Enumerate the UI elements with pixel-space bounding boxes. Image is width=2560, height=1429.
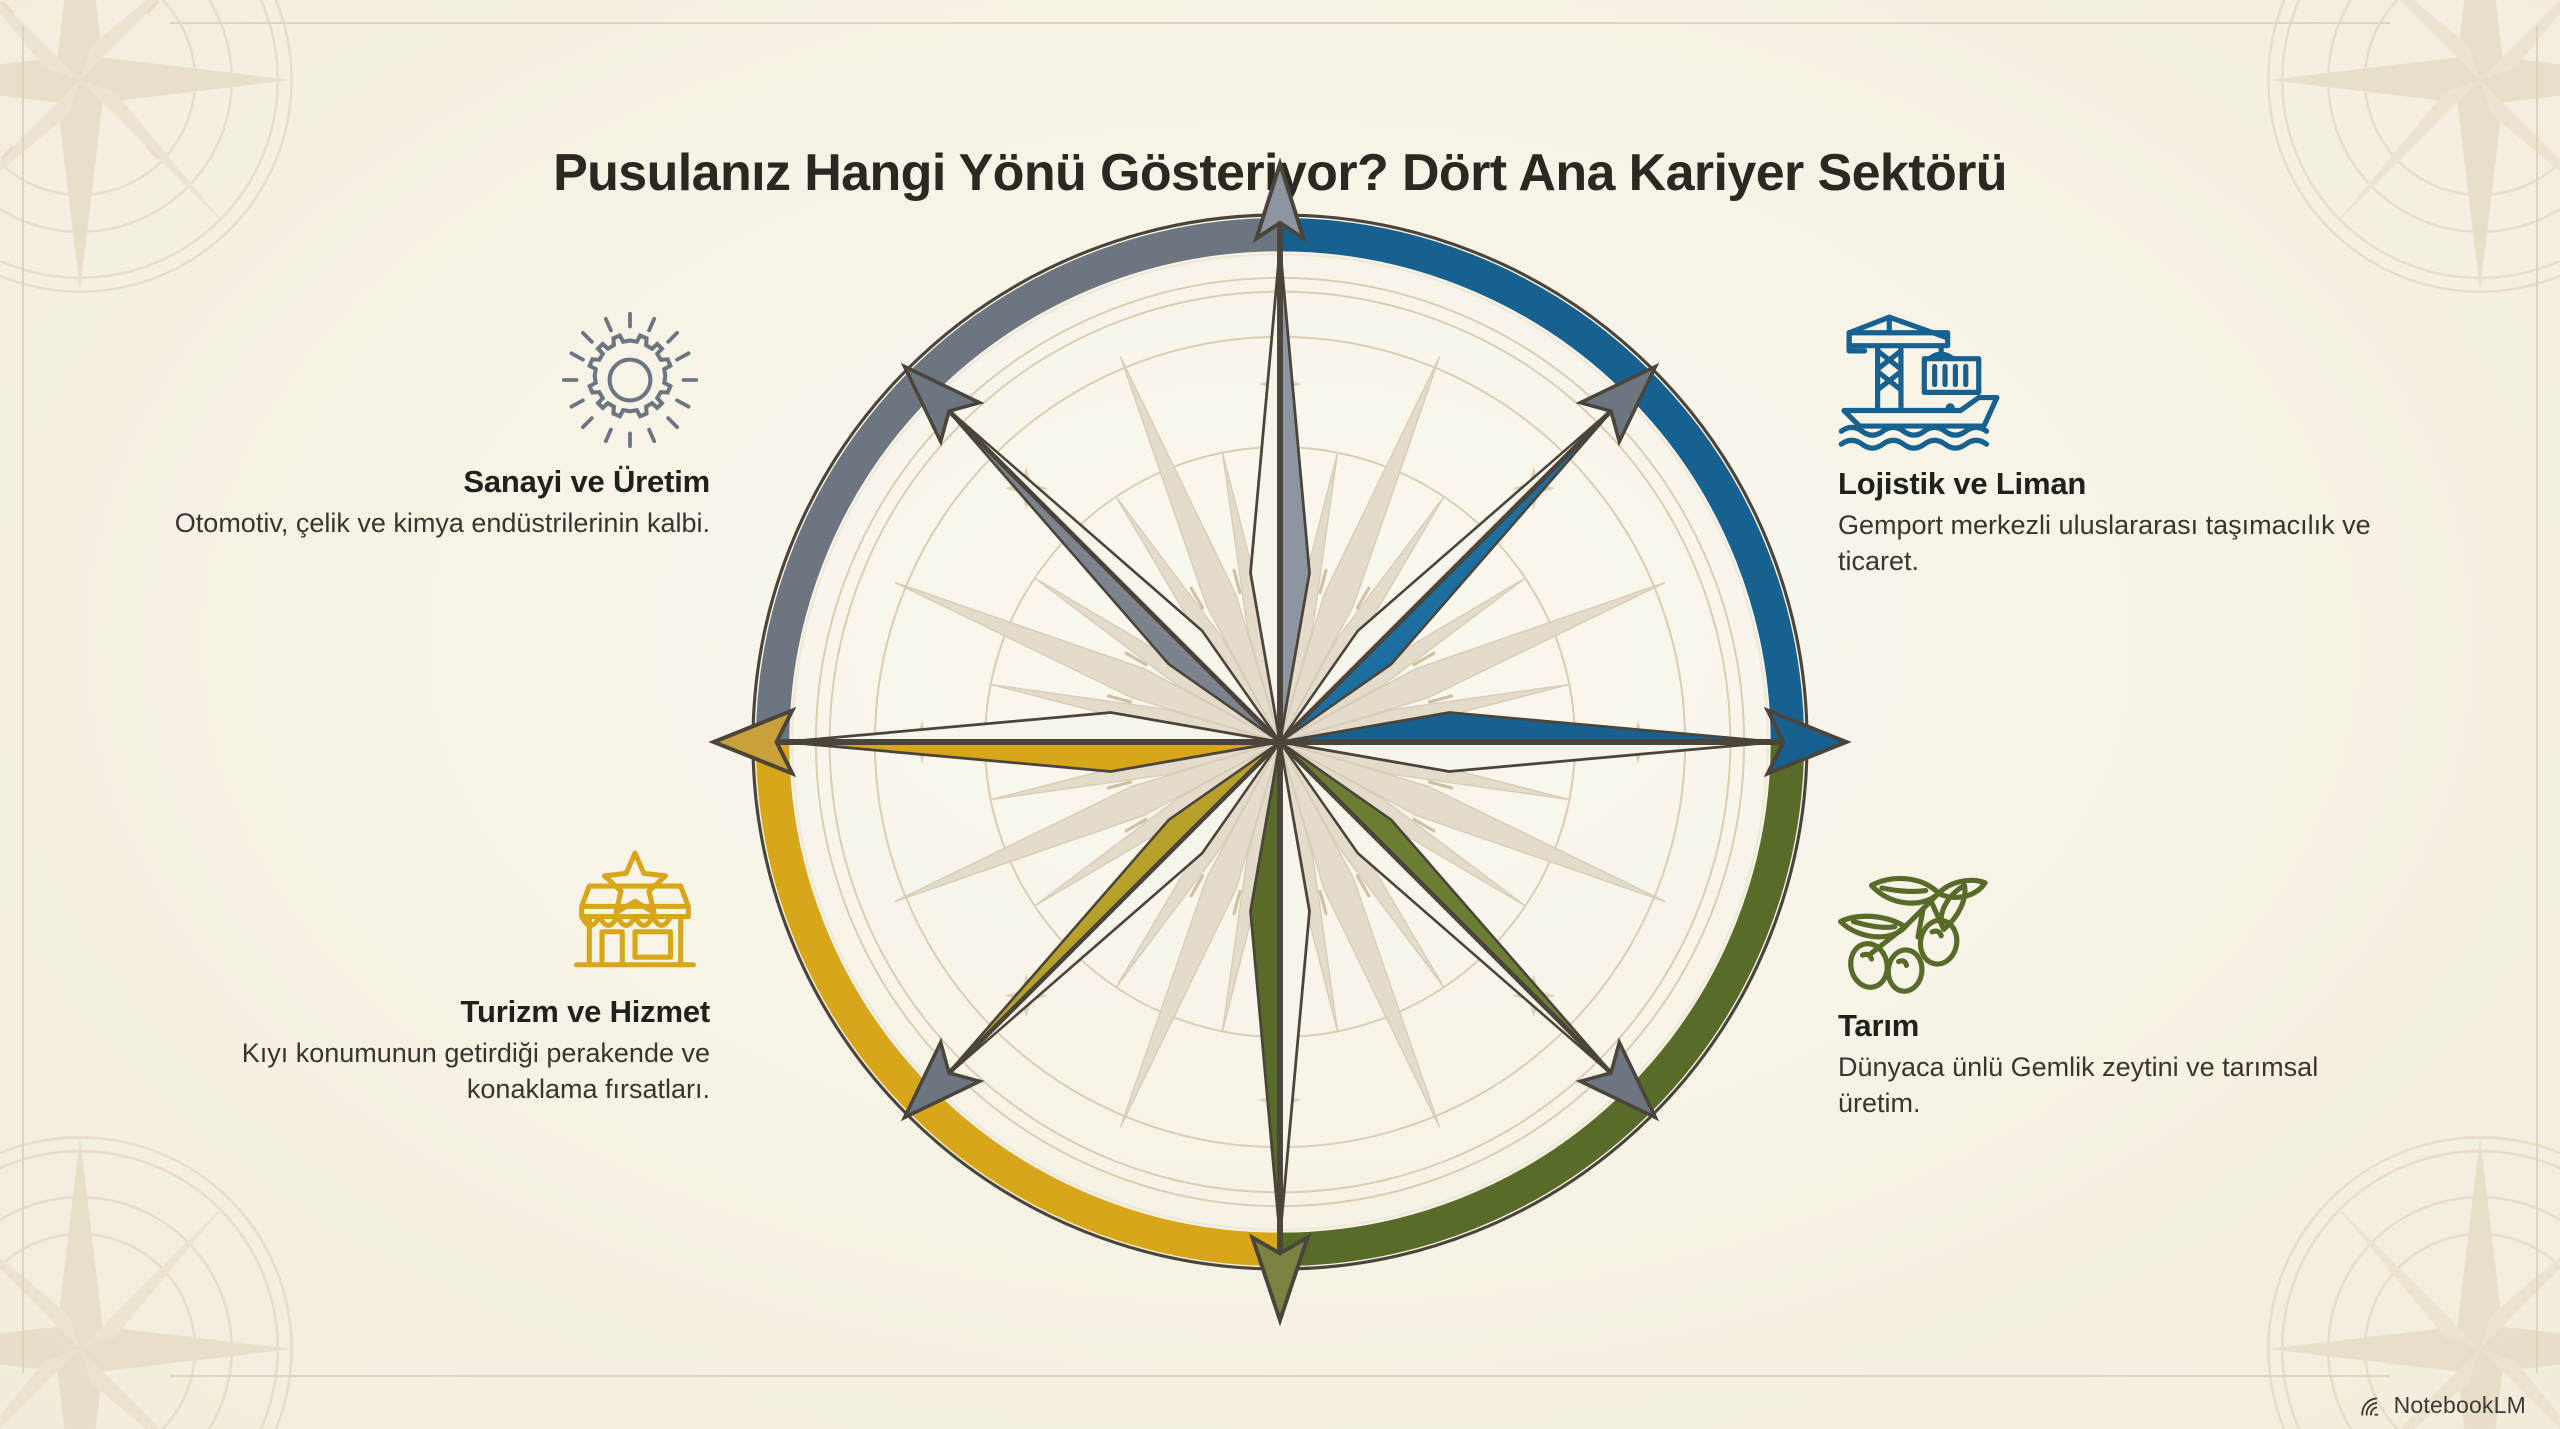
- sector-agriculture-heading: Tarım: [1838, 1008, 2398, 1044]
- port-crane-ship-icon: [1838, 320, 2398, 452]
- sector-logistics: Lojistik ve Liman Gemport merkezli ulusl…: [1838, 320, 2398, 580]
- sector-industry-body: Otomotiv, çelik ve kimya endüstrilerinin…: [150, 506, 710, 542]
- notebooklm-spiral-icon: [2359, 1393, 2385, 1419]
- sector-tourism-heading: Turizm ve Hizmet: [150, 994, 710, 1030]
- sector-agriculture-body: Dünyaca ünlü Gemlik zeytini ve tarımsal …: [1838, 1050, 2398, 1122]
- sector-industry-heading: Sanayi ve Üretim: [150, 464, 710, 500]
- shop-star-icon: [150, 848, 710, 980]
- sector-agriculture: Tarım Dünyaca ünlü Gemlik zeytini ve tar…: [1838, 862, 2398, 1122]
- frame-rule-right: [2536, 26, 2538, 1373]
- frame-rule-bottom: [170, 1375, 2390, 1377]
- infographic-canvas: Pusulanız Hangi Yönü Gösteriyor? Dört An…: [0, 0, 2560, 1429]
- career-compass-rose: [690, 152, 1870, 1332]
- sector-logistics-heading: Lojistik ve Liman: [1838, 466, 2398, 502]
- olive-branch-icon: [1838, 862, 2398, 994]
- sector-tourism-body: Kıyı konumunun getirdiği perakende ve ko…: [150, 1036, 710, 1108]
- sector-tourism: Turizm ve Hizmet Kıyı konumunun getirdiğ…: [150, 848, 710, 1108]
- notebooklm-label: NotebookLM: [2394, 1392, 2526, 1419]
- frame-rule-top: [170, 22, 2390, 24]
- sector-logistics-body: Gemport merkezli uluslararası taşımacılı…: [1838, 508, 2398, 580]
- sector-industry: Sanayi ve Üretim Otomotiv, çelik ve kimy…: [150, 318, 710, 542]
- frame-rule-left: [22, 26, 24, 1373]
- gear-sun-icon: [150, 318, 710, 450]
- notebooklm-watermark: NotebookLM: [2359, 1392, 2526, 1419]
